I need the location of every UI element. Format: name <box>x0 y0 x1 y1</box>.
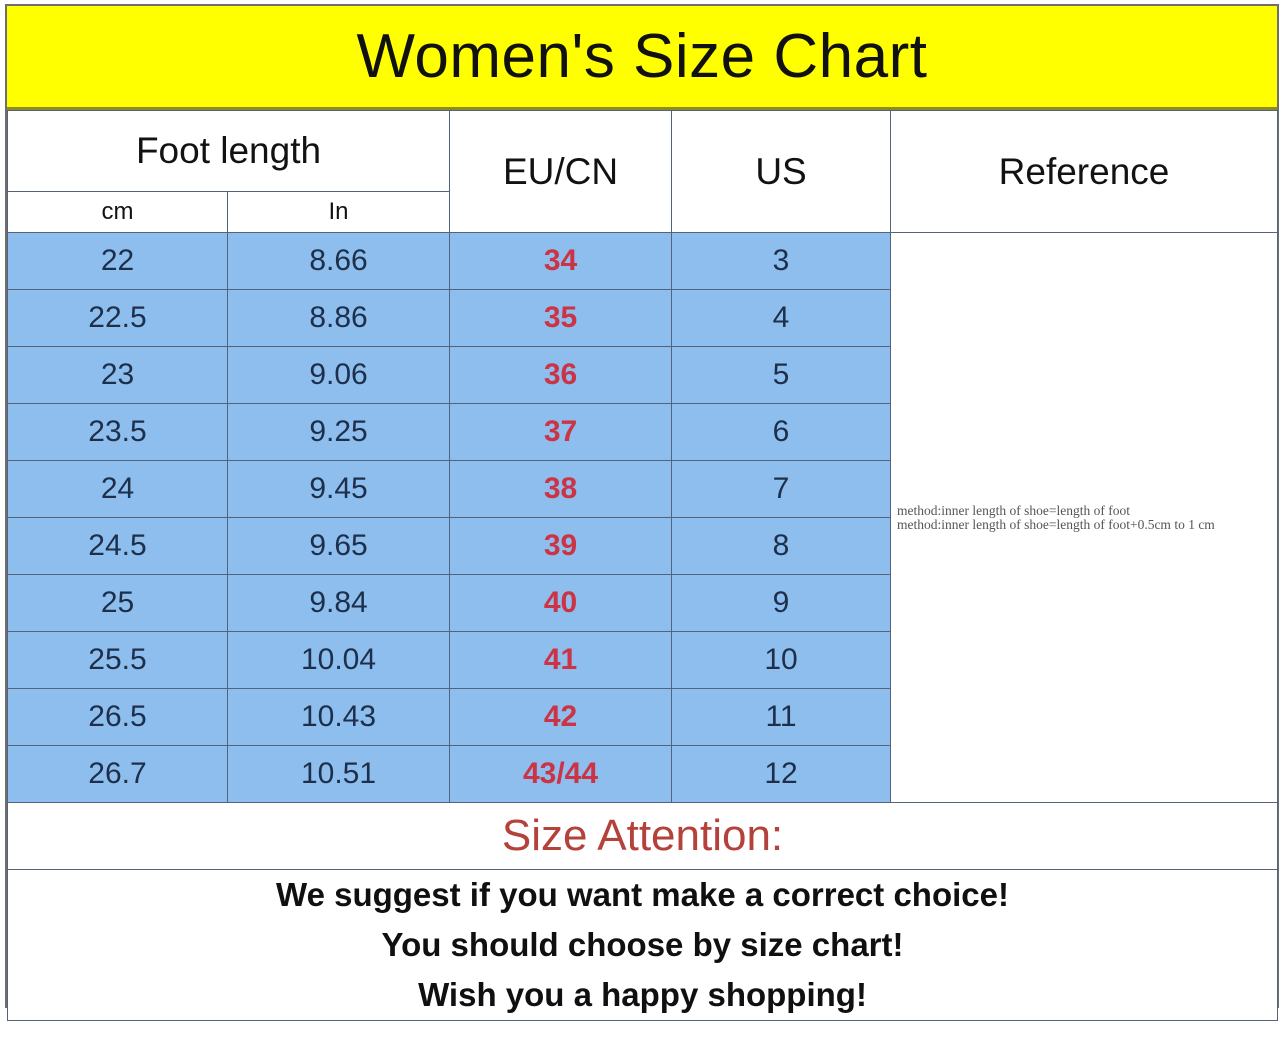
cell-eu-cn: 37 <box>450 404 672 461</box>
cell-cm: 24.5 <box>8 518 228 575</box>
reference-images-cell: method:inner length of shoe=length of fo… <box>891 233 1278 803</box>
cell-in: 9.25 <box>228 404 450 461</box>
cell-eu-cn: 42 <box>450 689 672 746</box>
reference-caption-1: method:inner length of shoe=length of fo… <box>891 504 1277 518</box>
cell-cm: 24 <box>8 461 228 518</box>
cell-us: 4 <box>672 290 891 347</box>
cell-eu-cn: 41 <box>450 632 672 689</box>
size-chart-frame: Women's Size Chart Foot length EU/CN US … <box>5 4 1279 1008</box>
column-header-reference: Reference <box>891 111 1278 233</box>
cell-in: 8.86 <box>228 290 450 347</box>
cell-in: 8.66 <box>228 233 450 290</box>
cell-in: 10.04 <box>228 632 450 689</box>
cell-cm: 26.5 <box>8 689 228 746</box>
column-header-cm: cm <box>8 192 228 233</box>
cell-eu-cn: 38 <box>450 461 672 518</box>
column-header-in: In <box>228 192 450 233</box>
cell-in: 9.65 <box>228 518 450 575</box>
cell-us: 7 <box>672 461 891 518</box>
cell-in: 9.45 <box>228 461 450 518</box>
note-line-1: We suggest if you want make a correct ch… <box>8 870 1277 920</box>
column-header-eu-cn: EU/CN <box>450 111 672 233</box>
note-line-3: Wish you a happy shopping! <box>8 970 1277 1020</box>
cell-cm: 25 <box>8 575 228 632</box>
cell-us: 6 <box>672 404 891 461</box>
cell-in: 9.84 <box>228 575 450 632</box>
cell-us: 3 <box>672 233 891 290</box>
column-header-foot-length: Foot length <box>8 111 450 192</box>
cell-in: 10.43 <box>228 689 450 746</box>
cell-eu-cn: 39 <box>450 518 672 575</box>
size-chart-table: Foot length EU/CN US Reference cm In 22 … <box>7 110 1278 1021</box>
page-title: Women's Size Chart <box>357 26 928 88</box>
cell-cm: 25.5 <box>8 632 228 689</box>
cell-cm: 22.5 <box>8 290 228 347</box>
size-attention-row: Size Attention: <box>8 803 1278 870</box>
table-row: 22 8.66 34 3 <box>8 233 1278 290</box>
cell-us: 11 <box>672 689 891 746</box>
table-header-row-primary: Foot length EU/CN US Reference <box>8 111 1278 192</box>
cell-eu-cn: 35 <box>450 290 672 347</box>
column-header-us: US <box>672 111 891 233</box>
cell-cm: 23.5 <box>8 404 228 461</box>
title-banner: Women's Size Chart <box>7 6 1277 110</box>
size-chart-page: Women's Size Chart Foot length EU/CN US … <box>0 0 1284 1063</box>
cell-in: 9.06 <box>228 347 450 404</box>
size-attention-heading: Size Attention: <box>8 814 1277 858</box>
size-notes-row: We suggest if you want make a correct ch… <box>8 870 1278 1021</box>
cell-eu-cn: 34 <box>450 233 672 290</box>
size-attention-cell: Size Attention: <box>8 803 1278 870</box>
cell-cm: 23 <box>8 347 228 404</box>
cell-cm: 26.7 <box>8 746 228 803</box>
cell-us: 5 <box>672 347 891 404</box>
cell-cm: 22 <box>8 233 228 290</box>
cell-eu-cn: 40 <box>450 575 672 632</box>
note-line-2: You should choose by size chart! <box>8 920 1277 970</box>
cell-us: 10 <box>672 632 891 689</box>
cell-eu-cn: 43/44 <box>450 746 672 803</box>
cell-in: 10.51 <box>228 746 450 803</box>
cell-us: 8 <box>672 518 891 575</box>
reference-caption-2: method:inner length of shoe=length of fo… <box>891 518 1277 532</box>
reference-stack: method:inner length of shoe=length of fo… <box>891 504 1277 531</box>
cell-us: 12 <box>672 746 891 803</box>
cell-eu-cn: 36 <box>450 347 672 404</box>
size-notes-cell: We suggest if you want make a correct ch… <box>8 870 1278 1021</box>
cell-us: 9 <box>672 575 891 632</box>
